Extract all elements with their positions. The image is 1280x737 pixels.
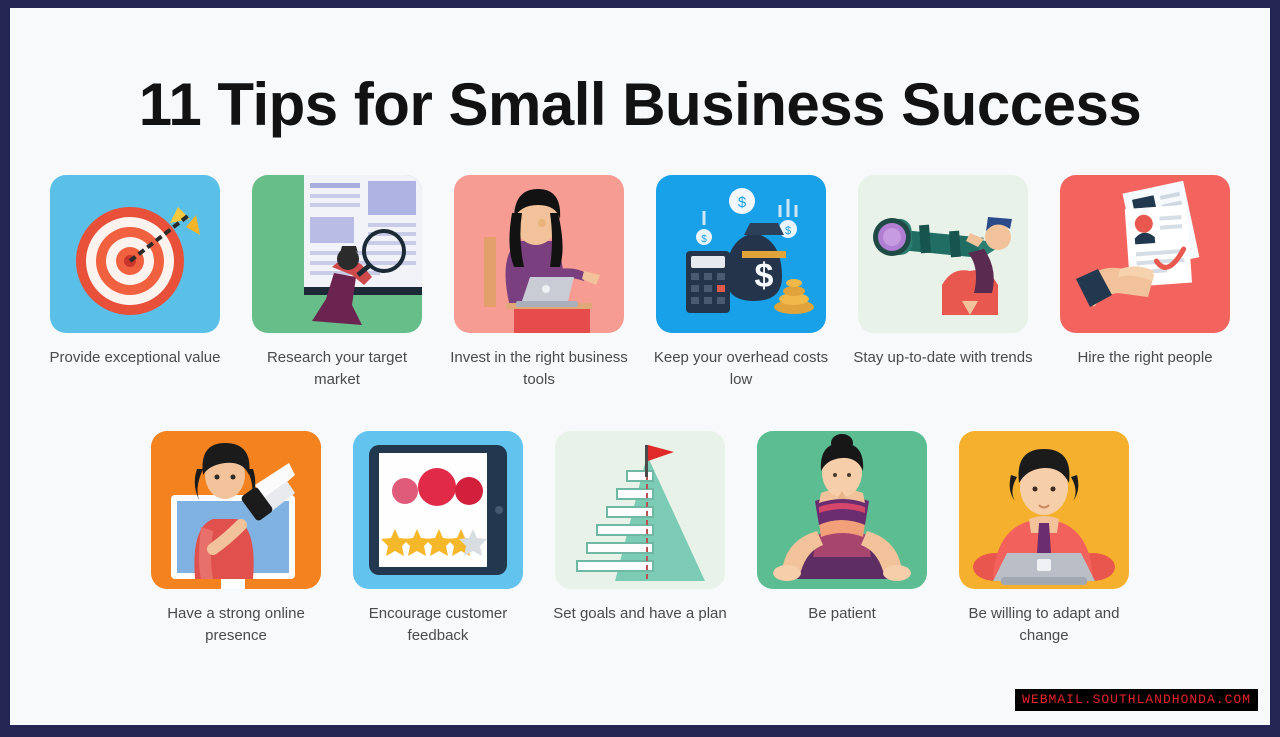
tips-row-2: Have a strong online presence — [10, 431, 1270, 647]
tips-row-1: Provide exceptional value — [10, 175, 1270, 391]
tip-tile-9 — [555, 431, 725, 589]
tip-card-8[interactable]: Encourage customer feedback — [353, 431, 523, 647]
svg-text:$: $ — [785, 225, 791, 237]
calculator-money-bag-icon: $ $ $ $ — [656, 175, 826, 333]
tip-tile-8 — [353, 431, 523, 589]
tip-card-10[interactable]: Be patient — [757, 431, 927, 625]
megaphone-monitor-icon — [151, 431, 321, 589]
tip-card-11[interactable]: Be willing to adapt and change — [959, 431, 1129, 647]
tip-card-5[interactable]: Stay up-to-date with trends — [858, 175, 1028, 369]
tip-label-6: Hire the right people — [1053, 347, 1238, 369]
tip-card-6[interactable]: Hire the right people — [1060, 175, 1230, 369]
tip-tile-6 — [1060, 175, 1230, 333]
tips-grid: Provide exceptional value — [10, 175, 1270, 647]
tip-tile-11 — [959, 431, 1129, 589]
tip-card-9[interactable]: Set goals and have a plan — [555, 431, 725, 625]
tip-tile-3 — [454, 175, 624, 333]
tip-tile-4: $ $ $ $ — [656, 175, 826, 333]
svg-text:$: $ — [701, 234, 707, 245]
tip-label-3: Invest in the right business tools — [447, 347, 632, 391]
infographic-frame: 11 Tips for Small Business Success — [0, 0, 1280, 737]
tip-label-9: Set goals and have a plan — [548, 603, 733, 625]
tip-label-8: Encourage customer feedback — [346, 603, 531, 647]
tip-label-11: Be willing to adapt and change — [952, 603, 1137, 647]
tip-label-7: Have a strong online presence — [144, 603, 329, 647]
person-with-laptop-icon — [959, 431, 1129, 589]
tip-label-2: Research your target market — [245, 347, 430, 391]
tip-card-2[interactable]: Research your target market — [252, 175, 422, 391]
magnifying-glass-research-icon — [252, 175, 422, 333]
svg-text:$: $ — [738, 194, 747, 211]
tip-tile-2 — [252, 175, 422, 333]
tip-label-5: Stay up-to-date with trends — [851, 347, 1036, 369]
tip-tile-7 — [151, 431, 321, 589]
tip-card-7[interactable]: Have a strong online presence — [151, 431, 321, 647]
watermark-badge: WEBMAIL.SOUTHLANDHONDA.COM — [1015, 689, 1258, 711]
mountain-stairs-flag-icon — [555, 431, 725, 589]
infographic-canvas: 11 Tips for Small Business Success — [10, 8, 1270, 725]
tip-card-1[interactable]: Provide exceptional value — [50, 175, 220, 369]
tip-tile-10 — [757, 431, 927, 589]
tablet-star-rating-icon — [353, 431, 523, 589]
meditating-woman-icon — [757, 431, 927, 589]
tip-tile-5 — [858, 175, 1028, 333]
tip-label-4: Keep your overhead costs low — [649, 347, 834, 391]
tip-card-3[interactable]: Invest in the right business tools — [454, 175, 624, 391]
telescope-icon — [858, 175, 1028, 333]
target-dartboard-icon — [50, 175, 220, 333]
tip-label-10: Be patient — [750, 603, 935, 625]
svg-text:$: $ — [755, 257, 774, 295]
page-title: 11 Tips for Small Business Success — [10, 8, 1270, 139]
tip-label-1: Provide exceptional value — [43, 347, 228, 369]
woman-at-laptop-icon — [454, 175, 624, 333]
tip-tile-1 — [50, 175, 220, 333]
tip-card-4[interactable]: $ $ $ $ — [656, 175, 826, 391]
hand-holding-resumes-icon — [1060, 175, 1230, 333]
